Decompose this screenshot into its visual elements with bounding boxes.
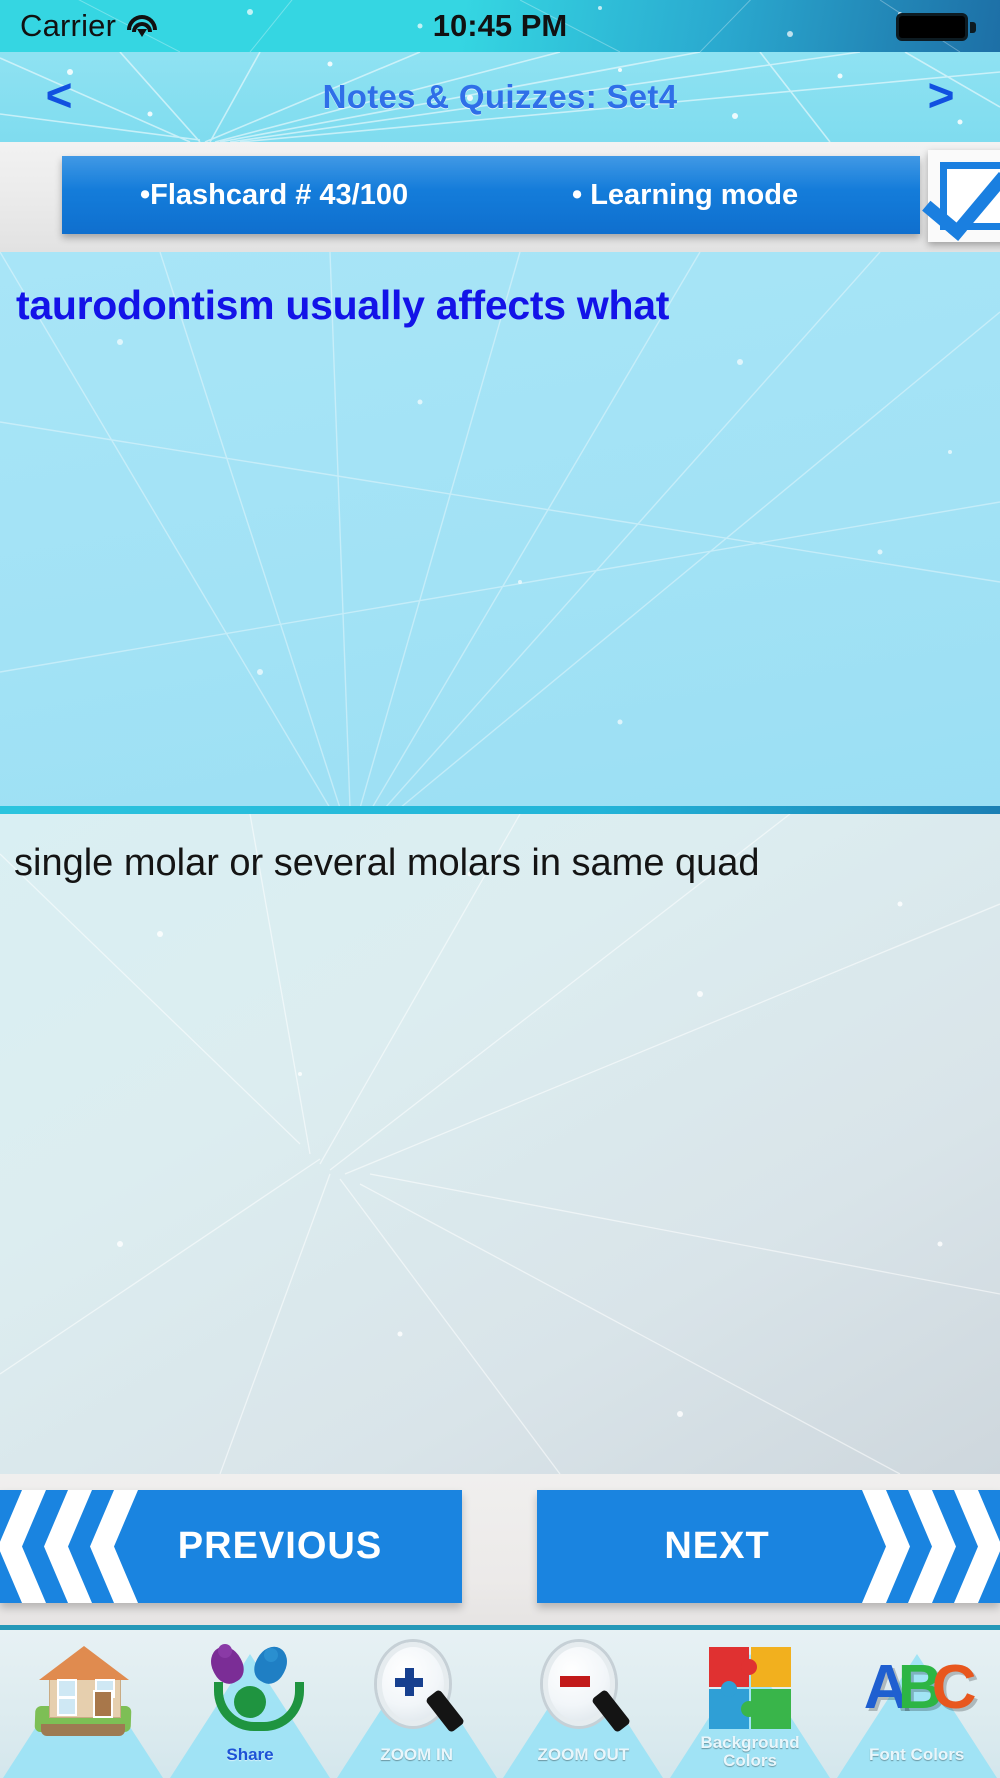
panel-divider [0, 806, 1000, 814]
background-colors-label-line1: Background [700, 1733, 799, 1752]
nav-bar: < Notes & Quizzes: Set4 > [0, 52, 1000, 142]
previous-button-label: PREVIOUS [120, 1490, 440, 1603]
checked-checkbox-icon[interactable] [928, 150, 1000, 242]
toolbar-item-home[interactable] [0, 1630, 167, 1778]
share-icon [167, 1634, 334, 1742]
question-text: taurodontism usually affects what [16, 280, 976, 330]
forward-button[interactable]: > [896, 52, 986, 142]
home-icon [0, 1634, 167, 1742]
previous-button[interactable]: PREVIOUS [0, 1490, 462, 1603]
zoom-out-label: ZOOM OUT [500, 1746, 667, 1764]
flashcard-counter: •Flashcard # 43/100 [140, 156, 408, 234]
answer-panel-network-pattern [0, 814, 1000, 1474]
learning-mode-label[interactable]: • Learning mode [572, 156, 798, 234]
puzzle-icon [667, 1634, 834, 1742]
battery-full-icon [896, 13, 976, 41]
flashcard-info-bar: •Flashcard # 43/100 • Learning mode [0, 142, 1000, 252]
question-panel-network-pattern [0, 252, 1000, 808]
status-bar-clock: 10:45 PM [0, 7, 1000, 45]
chevron-left-icon [0, 1490, 70, 1603]
font-colors-label: Font Colors [833, 1746, 1000, 1764]
card-navigation-bar: PREVIOUS NEXT [0, 1474, 1000, 1625]
magnifier-minus-icon [500, 1634, 667, 1742]
background-colors-label: Background Colors [667, 1734, 834, 1770]
magnifier-plus-icon [333, 1634, 500, 1742]
question-panel[interactable]: taurodontism usually affects what [0, 252, 1000, 808]
toolbar-item-zoom-out[interactable]: ZOOM OUT [500, 1630, 667, 1778]
status-bar: Carrier 10:45 PM [0, 0, 1000, 52]
flashcard-app-screen: Carrier 10:45 PM < [0, 0, 1000, 1778]
flashcard-info-band: •Flashcard # 43/100 • Learning mode [62, 156, 920, 234]
next-button[interactable]: NEXT [537, 1490, 1000, 1603]
share-label: Share [167, 1746, 334, 1764]
page-title: Notes & Quizzes: Set4 [0, 52, 1000, 142]
toolbar-item-share[interactable]: Share [167, 1630, 334, 1778]
answer-text: single molar or several molars in same q… [14, 840, 976, 888]
toolbar-item-zoom-in[interactable]: ZOOM IN [333, 1630, 500, 1778]
background-colors-label-line2: Colors [723, 1751, 777, 1770]
toolbar-item-font-colors[interactable]: ABC Font Colors [833, 1630, 1000, 1778]
bottom-toolbar: Share ZOOM IN ZOOM OUT [0, 1625, 1000, 1778]
next-button-label: NEXT [557, 1490, 877, 1603]
abc-icon: ABC [833, 1634, 1000, 1742]
zoom-in-label: ZOOM IN [333, 1746, 500, 1764]
toolbar-item-background-colors[interactable]: Background Colors [667, 1630, 834, 1778]
answer-panel[interactable]: single molar or several molars in same q… [0, 814, 1000, 1474]
